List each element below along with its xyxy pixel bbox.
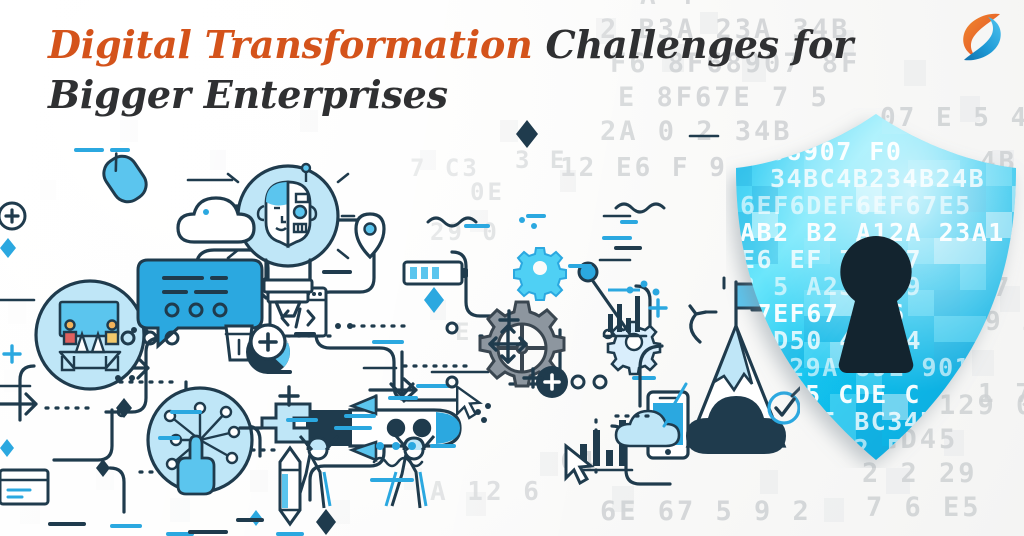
gear-connector-arm (579, 263, 630, 334)
plus-circle-icon-2 (536, 366, 568, 398)
svg-text:34BC4B234B24B: 34BC4B234B24B (770, 164, 985, 193)
cursor-arrow-icon (566, 446, 591, 483)
battery-icon (404, 262, 468, 284)
headline-accent: Digital Transformation (48, 22, 533, 67)
plus-circle-icon (251, 325, 285, 359)
digital-transformation-icon-scene: .ln{fill:none;stroke:#1f3b4d;stroke-widt… (0, 120, 800, 536)
network-hand-circle (148, 388, 252, 494)
svg-text:345 BC34B34F: 345 BC34B34F (788, 407, 987, 436)
meeting-people-circle (36, 281, 144, 389)
location-pin-icon (356, 214, 384, 257)
code-dots-window (0, 470, 48, 504)
banner-canvas: A 42 B3A 23A 34BF6 8F68907 8FE 8F67E 7 5… (0, 0, 1024, 536)
page-title: Digital Transformation Challenges for Bi… (48, 20, 928, 120)
headline-line2: Bigger Enterprises (48, 72, 448, 117)
svg-text:9A12 F07 129: 9A12 F07 129 (804, 434, 1003, 463)
svg-text:6 5 CDE C: 6 5 CDE C (772, 380, 921, 409)
svg-text:08907 F0: 08907 F0 (770, 137, 902, 166)
security-shield-with-keyhole: 08907 F034BC4B234B24B6EF6DEF6EF67E5AB2 B… (726, 108, 1024, 468)
plus-circle-icon-3 (0, 203, 25, 229)
gear-small-cyan-icon (514, 248, 566, 300)
mouse-icon (98, 150, 152, 207)
pencil-icon (278, 448, 302, 534)
svg-text:6EF6DEF6EF67E5: 6EF6DEF6EF67E5 (740, 191, 972, 220)
signity-s-logo[interactable] (956, 8, 1008, 66)
rocket-lift-icon (240, 396, 460, 508)
headline-line1-rest: Challenges for (533, 22, 853, 67)
